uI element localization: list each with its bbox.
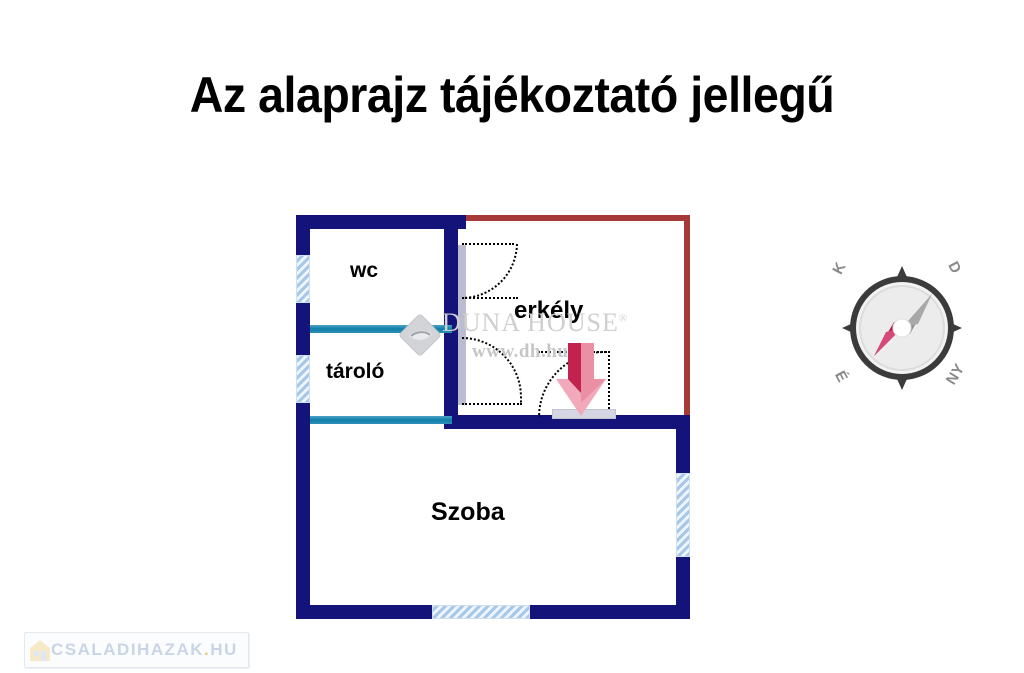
room-label-tarolo: tároló bbox=[326, 360, 384, 384]
window-left-upper bbox=[296, 255, 310, 303]
room-label-wc: wc bbox=[350, 259, 378, 283]
csaladihazak-tld: HU bbox=[210, 640, 238, 659]
house-icon bbox=[29, 638, 51, 662]
window-right-szoba bbox=[676, 473, 690, 557]
csaladihazak-brand-text: CSALADIHAZAK.HU bbox=[51, 640, 238, 660]
compass-rose: K D É NY bbox=[828, 258, 976, 398]
exterior-wall-right-seg1 bbox=[676, 415, 690, 473]
door-swing-arc-upper-curve bbox=[462, 243, 518, 299]
door-swing-arc-lower-curve bbox=[462, 337, 522, 405]
entrance-direction-arrow bbox=[552, 343, 610, 418]
window-left-lower bbox=[296, 355, 310, 403]
exterior-wall-left-seg2 bbox=[296, 303, 310, 355]
room-label-szoba: Szoba bbox=[431, 498, 505, 527]
exterior-wall-top-left bbox=[296, 215, 466, 229]
exterior-wall-bottom-right bbox=[530, 605, 690, 619]
balcony-wall-top bbox=[456, 215, 690, 221]
csaladihazak-name: CSALADIHAZAK bbox=[51, 640, 204, 659]
csaladihazak-watermark: CSALADIHAZAK.HU bbox=[24, 632, 249, 668]
exterior-wall-left-seg1 bbox=[296, 215, 310, 255]
interior-wall-wc-tarolo bbox=[310, 325, 452, 333]
room-label-erkely: erkély bbox=[514, 297, 583, 325]
interior-wall-vertical-center bbox=[444, 215, 458, 422]
page-title: Az alaprajz tájékoztató jellegű bbox=[36, 66, 988, 124]
floorplan-diagram: wc tároló erkély Szoba bbox=[296, 215, 692, 619]
window-bottom-szoba bbox=[432, 605, 530, 619]
balcony-wall-right bbox=[684, 215, 690, 422]
exterior-wall-left-seg3 bbox=[296, 403, 310, 619]
door-swing-arc-upper-base bbox=[462, 297, 518, 299]
exterior-wall-bottom-left bbox=[296, 605, 432, 619]
door-swing-arc-lower-base bbox=[462, 403, 522, 405]
interior-wall-tarolo-szoba bbox=[310, 416, 452, 424]
